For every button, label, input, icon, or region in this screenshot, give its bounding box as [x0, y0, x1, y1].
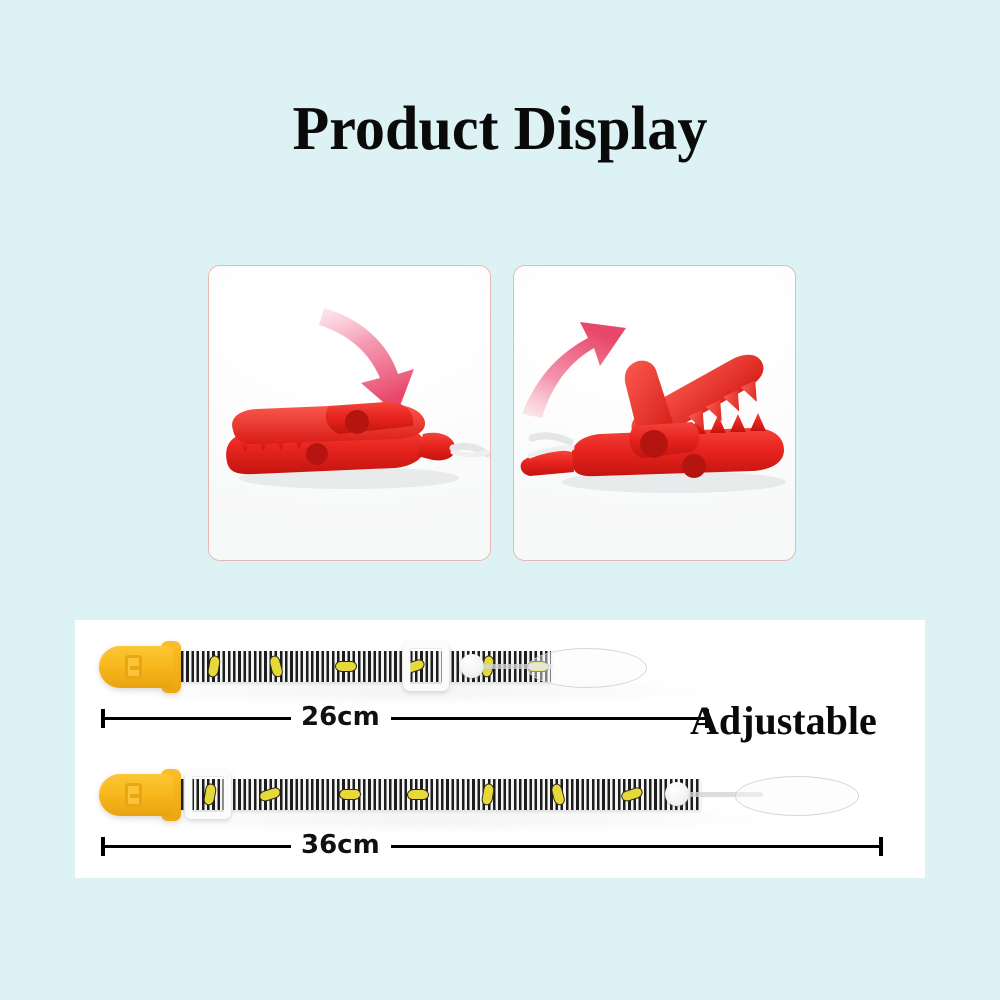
pacifier-loop	[735, 776, 859, 816]
adjuster-buckle[interactable]	[403, 641, 449, 691]
snap-button[interactable]	[460, 654, 484, 678]
banana-motif	[258, 786, 282, 803]
dimension-line-right	[391, 845, 881, 848]
snap-button[interactable]	[665, 782, 689, 806]
dimension-36cm: 36cm	[101, 833, 891, 859]
dimension-label: 26cm	[301, 702, 380, 732]
strap-fabric	[181, 779, 701, 810]
pacifier-loop	[527, 648, 647, 688]
photo-background	[209, 266, 490, 560]
banana-motif	[550, 782, 566, 806]
dimension-line-right	[391, 717, 707, 720]
banana-motif	[268, 654, 284, 678]
banana-motif	[339, 789, 361, 800]
suspender-clip	[99, 774, 187, 816]
strap-long	[75, 758, 925, 833]
suspender-clip	[99, 646, 187, 688]
product-display-page: Product Display	[0, 0, 1000, 1000]
banana-motif	[620, 786, 644, 803]
dimension-26cm: 26cm	[101, 705, 711, 731]
banana-motif	[335, 661, 357, 672]
banana-motif	[407, 789, 429, 800]
dimension-label: 36cm	[301, 830, 380, 860]
demo-panel-clip-open	[513, 265, 796, 561]
dimension-line-left	[105, 845, 291, 848]
demo-panel-clip-closed	[208, 265, 491, 561]
banana-motif	[207, 655, 222, 679]
crocodile-clip-open-image	[514, 266, 796, 561]
crocodile-clip-closed-image	[209, 266, 491, 561]
dimension-cap-right	[879, 837, 883, 856]
strap-short	[75, 630, 925, 705]
photo-background	[514, 266, 795, 560]
banana-motif	[481, 783, 496, 807]
page-title: Product Display	[15, 98, 985, 160]
product-measurement-panel: 26cm	[75, 620, 925, 878]
clip-pin	[125, 655, 142, 679]
clip-pin	[125, 783, 142, 807]
dimension-line-left	[105, 717, 291, 720]
adjuster-buckle[interactable]	[185, 769, 231, 819]
adjustable-label: Adjustable	[690, 697, 877, 744]
